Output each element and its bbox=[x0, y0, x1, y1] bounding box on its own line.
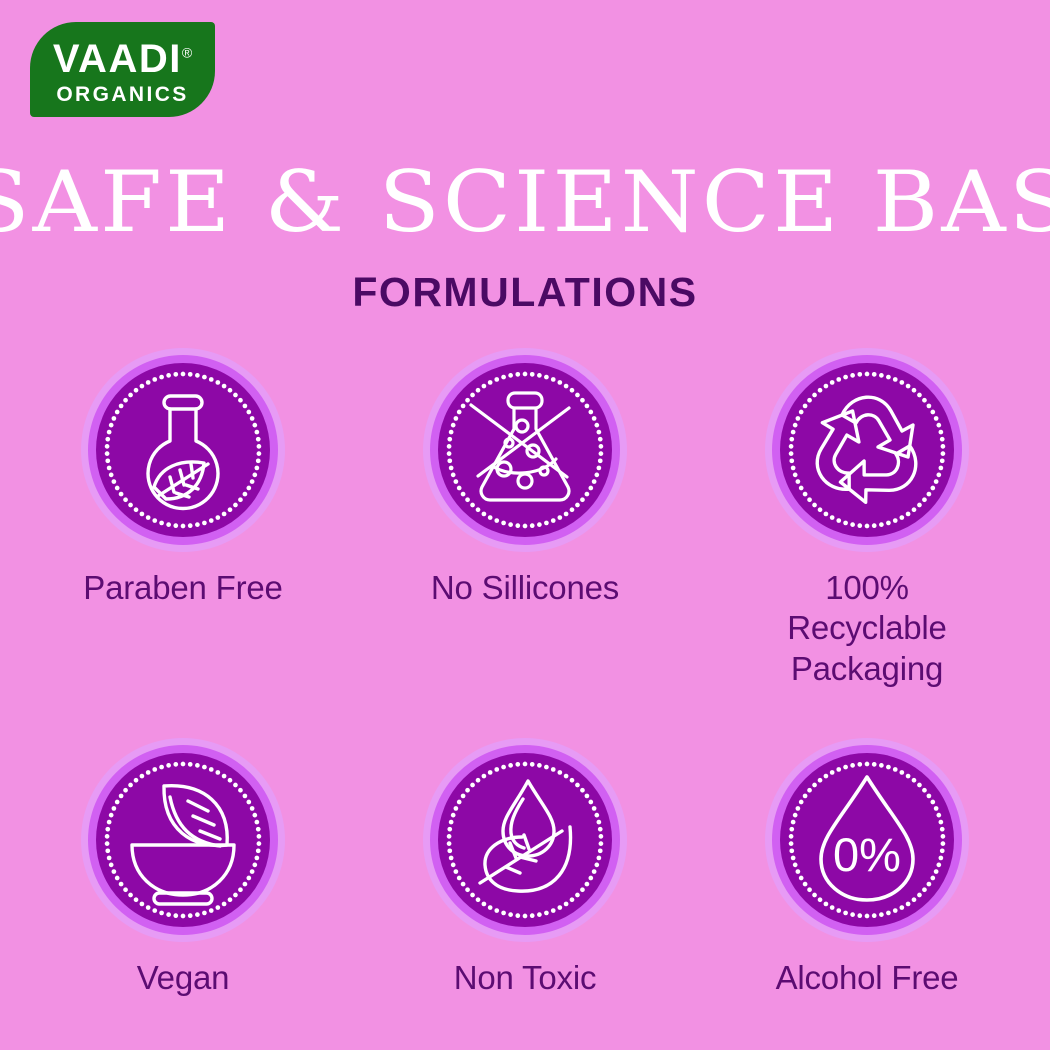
badge-alcohol-free: 0% bbox=[765, 738, 969, 942]
feature-row-1: Paraben Free bbox=[0, 348, 1050, 689]
page-subtitle: FORMULATIONS bbox=[0, 272, 1050, 313]
feature-item-recyclable-packaging[interactable]: 100% Recyclable Packaging bbox=[751, 348, 983, 689]
badge-recyclable-packaging bbox=[765, 348, 969, 552]
feature-label: Paraben Free bbox=[83, 568, 282, 608]
feature-label: Non Toxic bbox=[454, 958, 597, 998]
page-title: SAFE & SCIENCE BASED bbox=[0, 160, 1050, 244]
feature-badge-grid: Paraben Free bbox=[0, 348, 1050, 998]
feature-label: 100% Recyclable Packaging bbox=[751, 568, 983, 689]
feature-item-non-toxic[interactable]: Non Toxic bbox=[409, 738, 641, 998]
feature-label: Vegan bbox=[137, 958, 230, 998]
feature-item-alcohol-free[interactable]: 0% Alcohol Free bbox=[751, 738, 983, 998]
crossed-out-flask-icon bbox=[438, 363, 612, 537]
badge-vegan bbox=[81, 738, 285, 942]
badge-paraben-free bbox=[81, 348, 285, 552]
bowl-leaf-icon bbox=[96, 753, 270, 927]
logo-brand-name: VAADI® bbox=[30, 39, 215, 79]
logo-subtitle: ORGANICS bbox=[30, 84, 215, 105]
zero-percent-text: 0% bbox=[833, 828, 901, 881]
registered-trademark-icon: ® bbox=[182, 45, 192, 61]
promo-graphic: VAADI® ORGANICS SAFE & SCIENCE BASED FOR… bbox=[0, 0, 1050, 1050]
flask-leaf-icon bbox=[96, 363, 270, 537]
recycle-icon bbox=[780, 363, 954, 537]
brand-logo: VAADI® ORGANICS bbox=[30, 22, 215, 117]
feature-item-paraben-free[interactable]: Paraben Free bbox=[67, 348, 299, 689]
logo-brand-text: VAADI bbox=[53, 37, 182, 81]
droplet-zero-percent-icon: 0% bbox=[780, 753, 954, 927]
feature-label: Alcohol Free bbox=[776, 958, 959, 998]
badge-no-sillicones bbox=[423, 348, 627, 552]
badge-non-toxic bbox=[423, 738, 627, 942]
feature-item-no-sillicones[interactable]: No Sillicones bbox=[409, 348, 641, 689]
feature-label: No Sillicones bbox=[431, 568, 619, 608]
feature-item-vegan[interactable]: Vegan bbox=[67, 738, 299, 998]
feature-row-2: Vegan bbox=[0, 738, 1050, 998]
droplet-leaf-icon bbox=[438, 753, 612, 927]
